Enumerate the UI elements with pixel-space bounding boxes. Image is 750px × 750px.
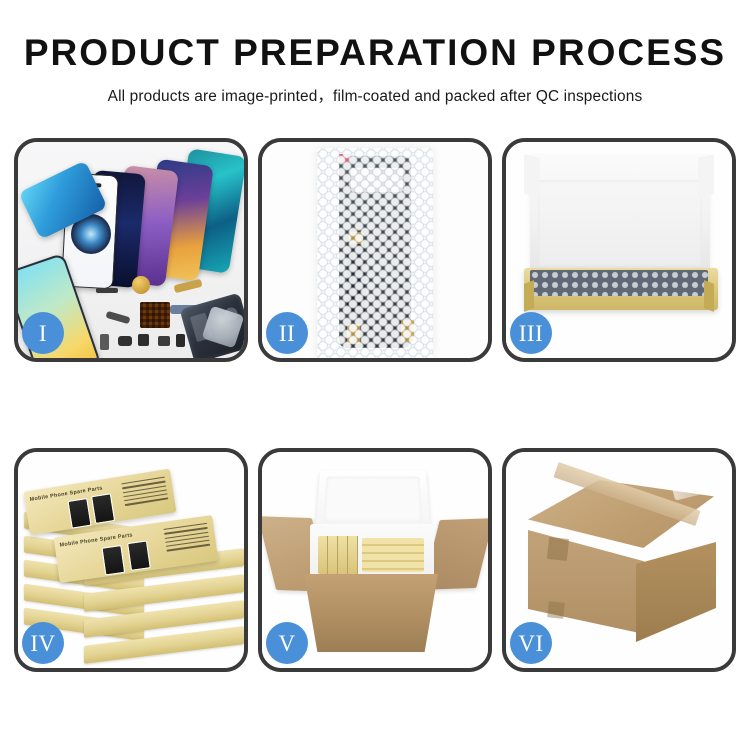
step-badge-5: V <box>266 622 308 664</box>
step-badge-3: III <box>510 312 552 354</box>
process-step-panel-1: I <box>14 138 248 362</box>
screw-tray-part <box>140 302 170 328</box>
camera-module-part <box>118 336 132 346</box>
retail-box-label: Mobile Phone Spare Parts <box>59 532 133 548</box>
process-step-panel-4: Mobile Phone Spare Parts Mobile Phone Sp… <box>14 448 248 672</box>
gold-box-lip-right <box>704 280 714 312</box>
button-part <box>100 334 109 350</box>
carton-tab-upper <box>547 537 569 561</box>
step-badge-2: II <box>266 312 308 354</box>
process-step-panel-3: III <box>502 138 736 362</box>
flex-cable-gold <box>173 279 202 294</box>
gold-box-lip-left <box>524 280 534 312</box>
flex-cable-dark <box>106 311 131 324</box>
carton-front-face <box>528 530 644 634</box>
carton-side-face <box>636 542 716 642</box>
box-art-phone <box>127 540 151 571</box>
process-step-panel-6: VI <box>502 448 736 672</box>
white-foam-lid <box>530 154 710 272</box>
bubble-wrap-bag <box>317 148 433 358</box>
process-step-panel-2: II <box>258 138 492 362</box>
box-spec-lines <box>121 477 169 512</box>
foam-liner-lid <box>316 470 431 528</box>
speaker-part <box>96 288 118 293</box>
step-badge-6: VI <box>510 622 552 664</box>
bubble-texture <box>317 148 433 358</box>
ic-chip-part <box>138 334 149 346</box>
foam-lid-flap-right <box>698 154 714 198</box>
carton-body <box>304 574 438 652</box>
carton-tab-lower <box>547 601 565 619</box>
step-badge-4: IV <box>22 622 64 664</box>
box-art-phone <box>67 498 91 529</box>
page-subtitle: All products are image-printed，film-coat… <box>0 84 750 106</box>
infographic-page: PRODUCT PREPARATION PROCESS All products… <box>0 0 750 750</box>
box-art-phone <box>101 545 125 576</box>
connector-part <box>158 336 170 346</box>
vibration-motor-part <box>132 276 150 294</box>
box-spec-lines <box>163 523 210 557</box>
foam-lid-flap-left <box>524 154 540 198</box>
page-title: PRODUCT PREPARATION PROCESS <box>0 34 750 73</box>
box-art-phone <box>91 493 115 524</box>
header: PRODUCT PREPARATION PROCESS All products… <box>0 0 750 106</box>
step-badge-1: I <box>22 312 64 354</box>
sensor-part <box>176 334 185 347</box>
bubble-wrapped-contents <box>530 270 708 296</box>
gold-boxes-inside <box>318 536 426 574</box>
process-step-panel-5: V <box>258 448 492 672</box>
process-step-grid: I II <box>14 138 736 672</box>
